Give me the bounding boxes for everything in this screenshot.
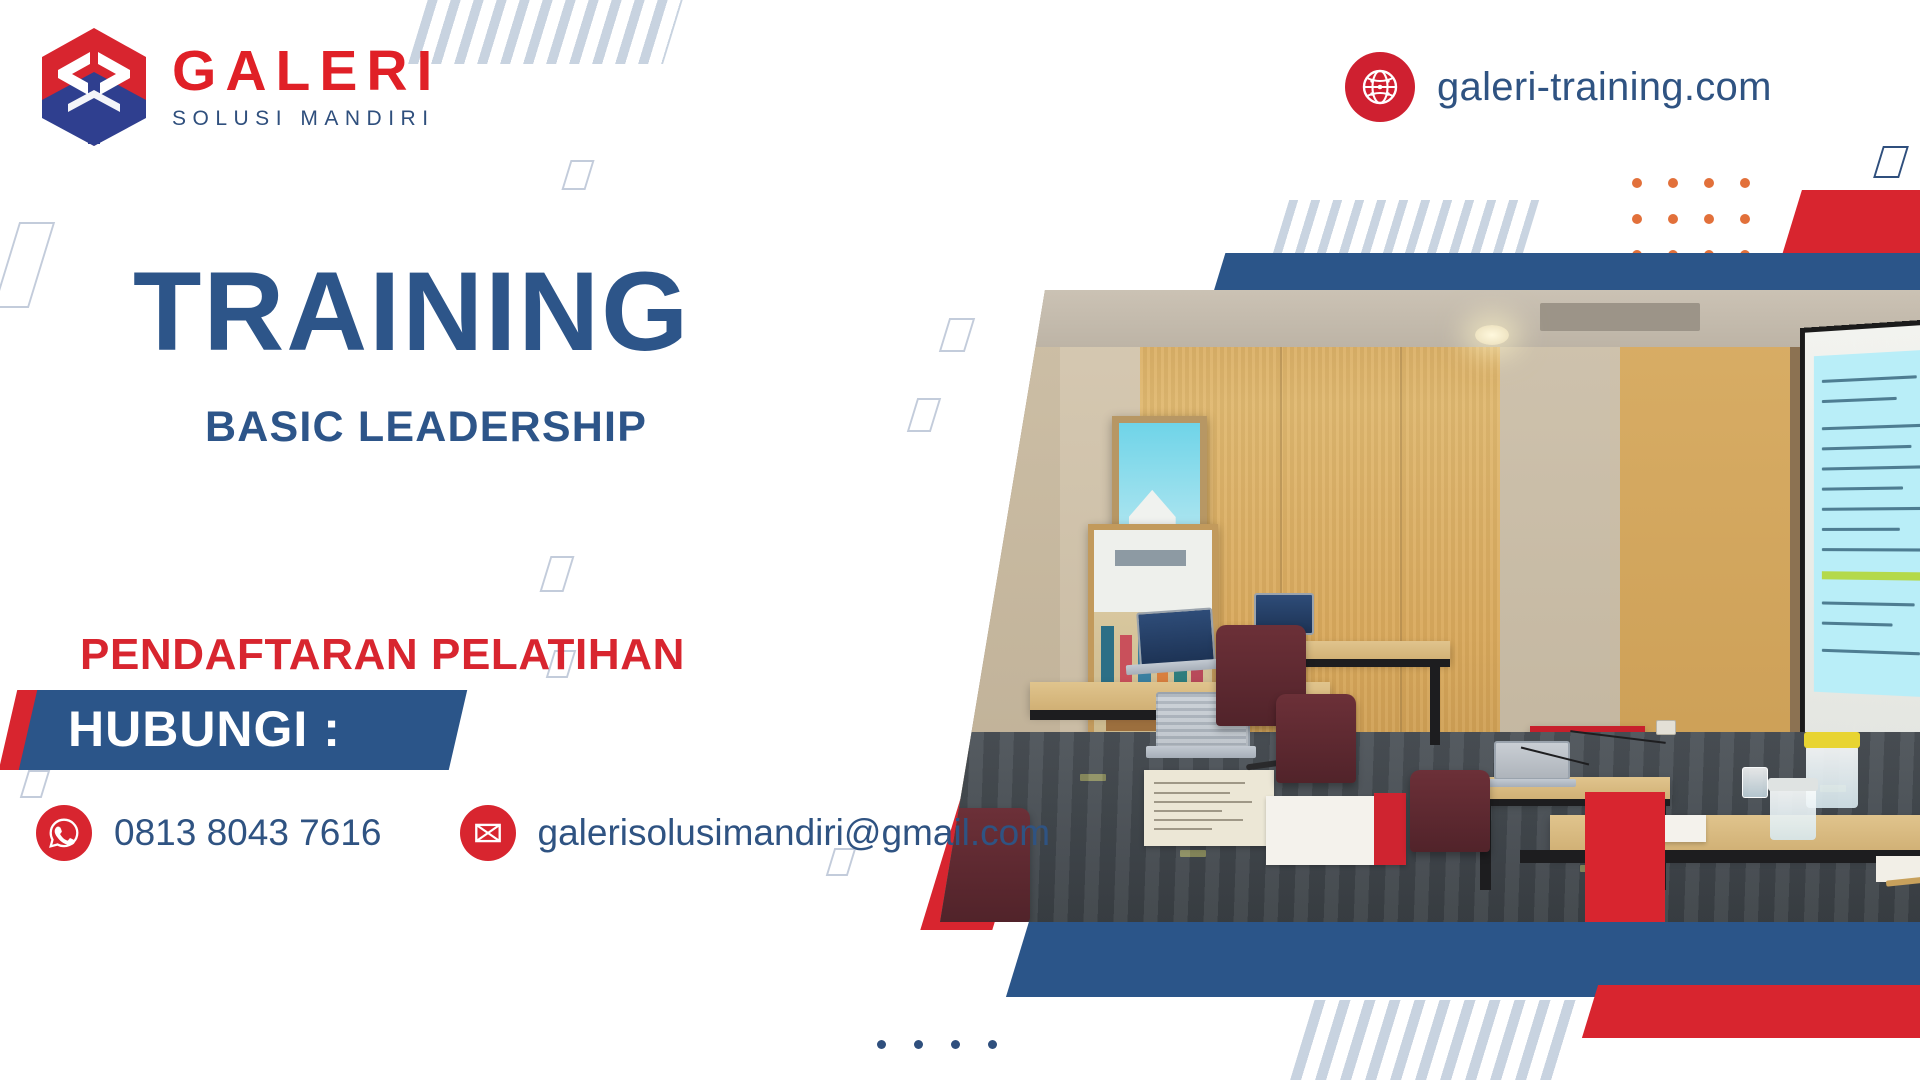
glass-right-1 xyxy=(1770,787,1816,840)
projector-screen xyxy=(1800,317,1920,756)
page-subtitle: BASIC LEADERSHIP xyxy=(205,403,647,452)
parallelogram-outline-navy-1 xyxy=(1873,146,1909,178)
training-photo-scene xyxy=(940,290,1920,922)
logo-tagline: SOLUSI MANDIRI xyxy=(172,107,441,131)
envelope-icon[interactable] xyxy=(460,805,516,861)
globe-icon xyxy=(1345,52,1415,122)
diagonal-stripes-upper-right xyxy=(1271,200,1539,260)
diagonal-stripes-top-left xyxy=(408,0,687,64)
chair-3 xyxy=(1410,770,1490,852)
parallelogram-outline-mid-3 xyxy=(539,556,574,592)
red-accent-right-edge xyxy=(1585,792,1665,922)
page-title: TRAINING xyxy=(133,256,690,368)
parallelogram-outline-mid-2 xyxy=(907,398,941,432)
chair-2 xyxy=(1276,694,1356,782)
website-link[interactable]: galeri-training.com xyxy=(1345,52,1772,122)
galeri-hexagon-logo-icon xyxy=(38,26,150,148)
phone-number[interactable]: 0813 8043 7616 xyxy=(114,812,382,854)
email-accent-dots xyxy=(877,1040,997,1049)
contact-band-label: HUBUNGI : xyxy=(68,700,341,758)
training-photo xyxy=(940,290,1920,922)
brand-logo[interactable]: GALERI SOLUSI MANDIRI xyxy=(38,26,441,148)
poster-canvas: GALERI SOLUSI MANDIRI galeri-training.co… xyxy=(0,0,1920,1080)
parallelogram-outline-top-1 xyxy=(561,160,594,190)
parallelogram-outline-left-1 xyxy=(0,222,55,308)
red-accent-bottom-right xyxy=(1582,985,1920,1038)
whatsapp-icon[interactable] xyxy=(36,805,92,861)
diagonal-stripes-bottom-right xyxy=(1285,1000,1584,1080)
website-url-text: galeri-training.com xyxy=(1437,65,1772,110)
contact-row: 0813 8043 7616 galerisolusimandiri@gmail… xyxy=(36,805,1050,861)
registration-heading: PENDAFTARAN PELATIHAN xyxy=(80,630,685,680)
email-address[interactable]: galerisolusimandiri@gmail.com xyxy=(538,812,1051,854)
parallelogram-outline-mid-1 xyxy=(939,318,975,352)
logo-brand-name: GALERI xyxy=(172,43,441,100)
open-notebook xyxy=(1144,770,1274,846)
parallelogram-outline-left-2 xyxy=(20,770,51,798)
